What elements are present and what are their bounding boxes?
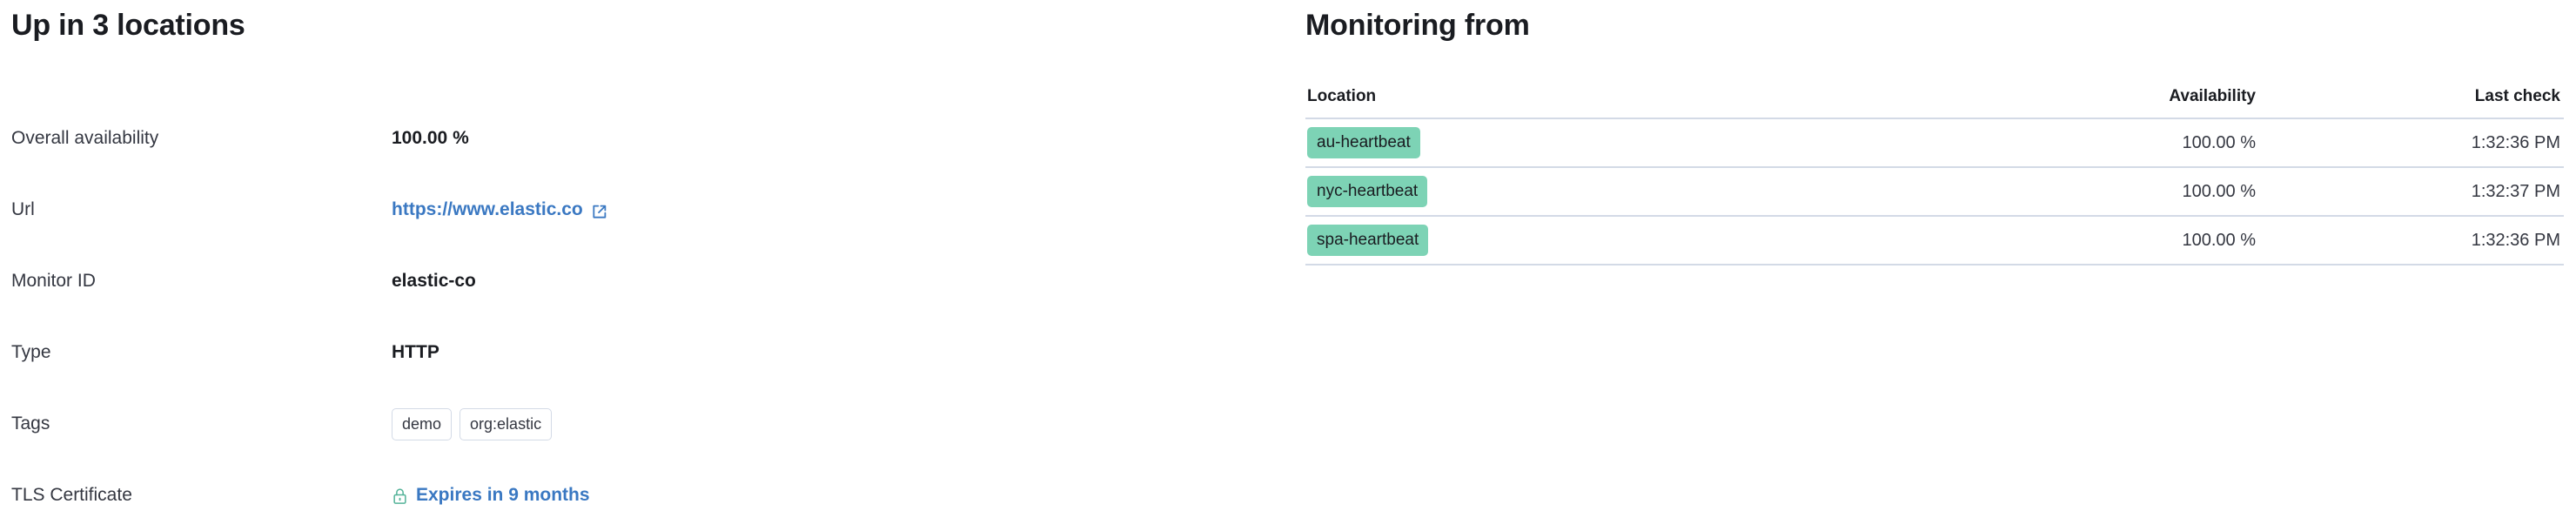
detail-value-type: HTTP — [392, 340, 1297, 365]
tag-list: demo org:elastic — [392, 408, 552, 440]
table-header-row: Location Availability Last check — [1305, 87, 2564, 118]
location-badge[interactable]: nyc-heartbeat — [1307, 176, 1427, 207]
table-body: au-heartbeat 100.00 % 1:32:36 PM nyc-hea… — [1305, 118, 2564, 265]
tag-badge[interactable]: demo — [392, 408, 452, 440]
detail-row-tags: Tags demo org:elastic — [0, 388, 1297, 460]
detail-label-type: Type — [0, 340, 392, 365]
table-header: Location Availability Last check — [1305, 87, 2564, 118]
detail-row-tls-certificate: TLS Certificate Expires in 9 months — [0, 460, 1297, 531]
monitor-detail-list: Overall availability 100.00 % Url https:… — [0, 103, 1297, 531]
tls-certificate-label: Expires in 9 months — [416, 483, 590, 507]
column-header-location[interactable]: Location — [1305, 87, 1864, 118]
monitor-detail-page: Up in 3 locations Overall availability 1… — [0, 0, 2576, 519]
detail-label-monitor-id: Monitor ID — [0, 269, 392, 293]
monitoring-locations-table: Location Availability Last check au-hear… — [1305, 87, 2564, 265]
table-row: nyc-heartbeat 100.00 % 1:32:37 PM — [1305, 167, 2564, 216]
table-row: spa-heartbeat 100.00 % 1:32:36 PM — [1305, 216, 2564, 265]
cell-location: au-heartbeat — [1305, 118, 1864, 167]
monitor-summary-panel: Up in 3 locations Overall availability 1… — [0, 0, 1297, 519]
column-header-last-check[interactable]: Last check — [2256, 87, 2564, 118]
detail-value-tls-certificate: Expires in 9 months — [392, 483, 1297, 507]
cell-location: nyc-heartbeat — [1305, 167, 1864, 216]
location-badge[interactable]: au-heartbeat — [1307, 127, 1420, 158]
cell-last-check: 1:32:37 PM — [2256, 167, 2564, 216]
url-link[interactable]: https://www.elastic.co — [392, 198, 607, 222]
column-header-availability[interactable]: Availability — [1864, 87, 2256, 118]
detail-value-overall-availability: 100.00 % — [392, 126, 1297, 151]
url-link-label: https://www.elastic.co — [392, 198, 583, 222]
cell-availability: 100.00 % — [1864, 216, 2256, 265]
detail-row-url: Url https://www.elastic.co — [0, 174, 1297, 245]
table-row: au-heartbeat 100.00 % 1:32:36 PM — [1305, 118, 2564, 167]
detail-row-overall-availability: Overall availability 100.00 % — [0, 103, 1297, 174]
detail-row-monitor-id: Monitor ID elastic-co — [0, 245, 1297, 317]
detail-label-url: Url — [0, 198, 392, 222]
tls-certificate-link[interactable]: Expires in 9 months — [392, 483, 590, 507]
cell-availability: 100.00 % — [1864, 167, 2256, 216]
monitoring-from-panel: Monitoring from Location Availability La… — [1297, 0, 2576, 519]
cell-last-check: 1:32:36 PM — [2256, 118, 2564, 167]
detail-value-url: https://www.elastic.co — [392, 198, 1297, 222]
page-title: Up in 3 locations — [0, 8, 245, 43]
lock-icon — [392, 487, 408, 505]
cell-availability: 100.00 % — [1864, 118, 2256, 167]
cell-last-check: 1:32:36 PM — [2256, 216, 2564, 265]
detail-row-type: Type HTTP — [0, 317, 1297, 388]
cell-location: spa-heartbeat — [1305, 216, 1864, 265]
monitoring-from-title: Monitoring from — [1305, 8, 1530, 43]
detail-label-overall-availability: Overall availability — [0, 126, 392, 151]
tag-badge[interactable]: org:elastic — [460, 408, 552, 440]
external-link-icon — [591, 203, 607, 219]
detail-label-tags: Tags — [0, 412, 392, 436]
location-badge[interactable]: spa-heartbeat — [1307, 225, 1428, 256]
detail-value-tags: demo org:elastic — [392, 408, 1297, 440]
detail-label-tls-certificate: TLS Certificate — [0, 483, 392, 507]
detail-value-monitor-id: elastic-co — [392, 269, 1297, 293]
